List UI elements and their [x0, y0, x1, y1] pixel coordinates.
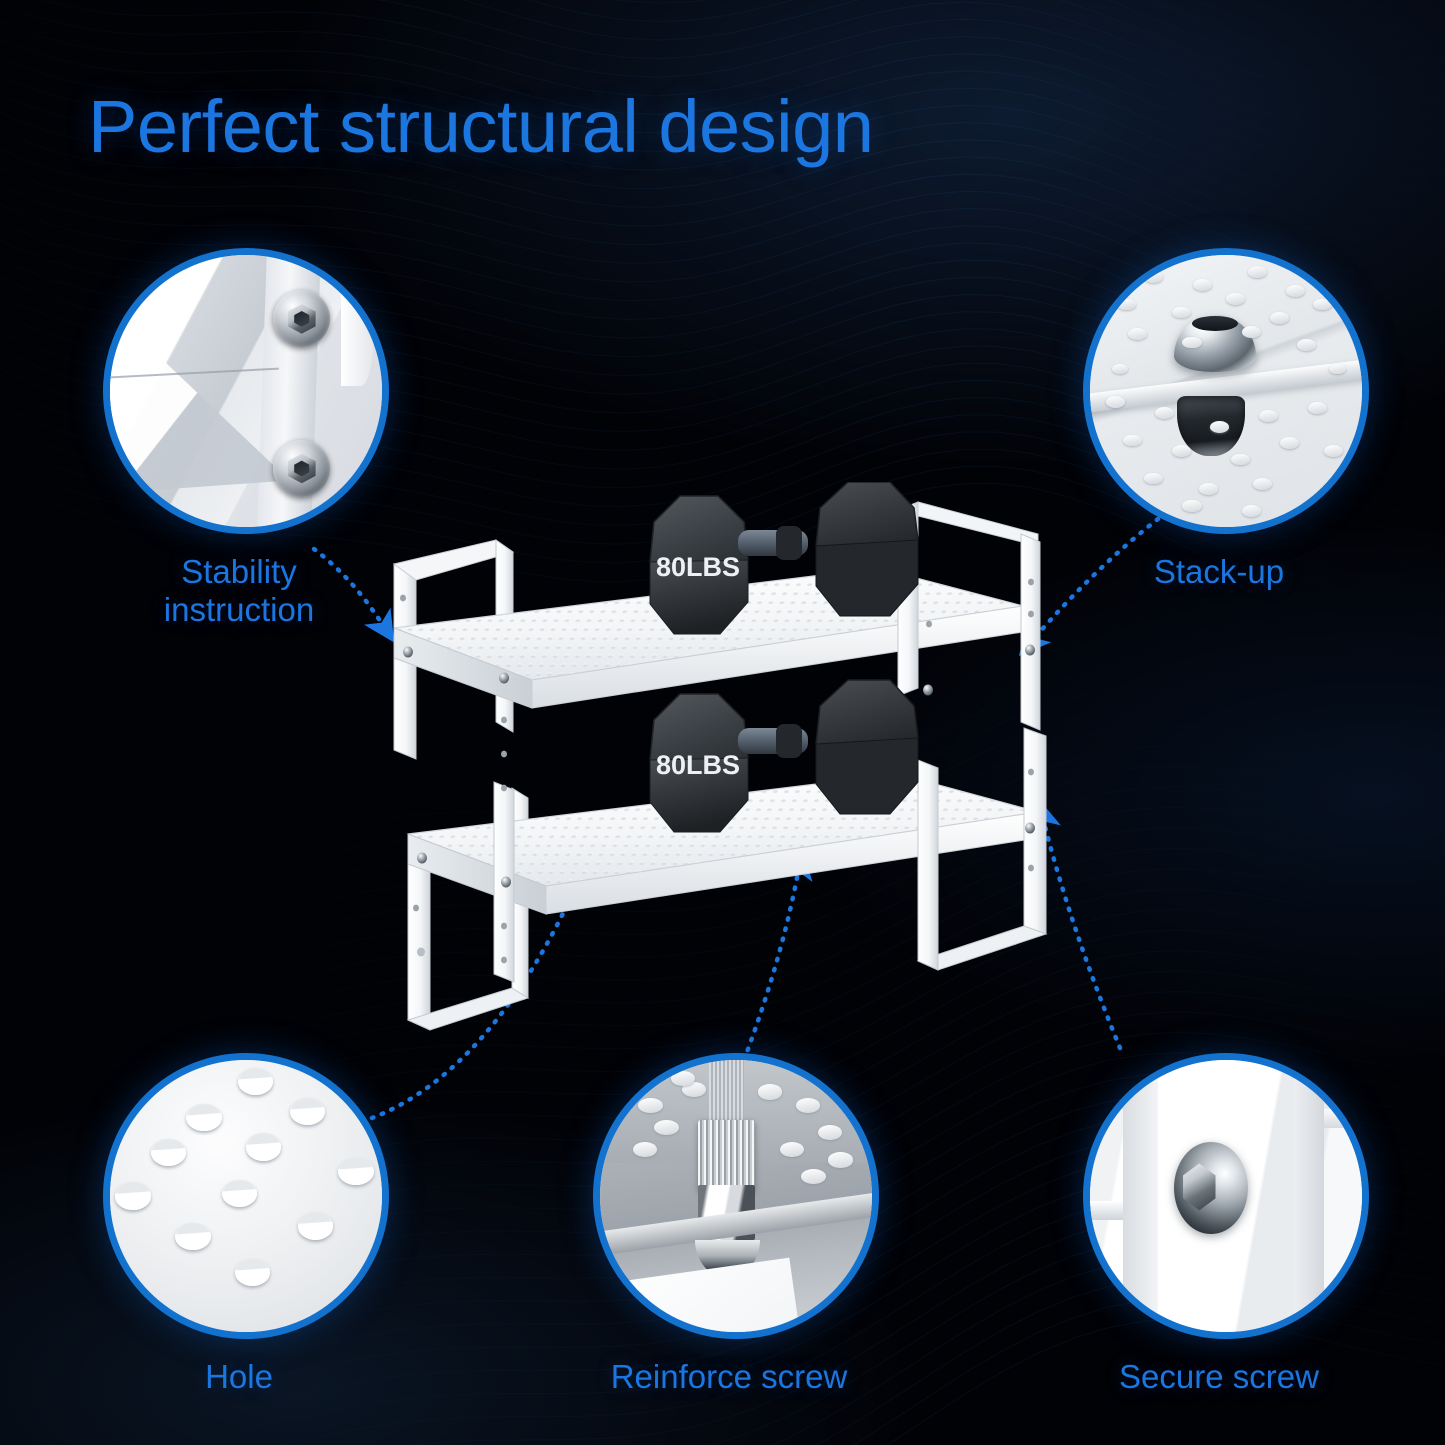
perforation-dot	[1112, 364, 1128, 374]
perforation-dot	[633, 1142, 657, 1157]
hex-screw-panel-icon[interactable]	[103, 248, 389, 534]
callout-stackup-label: Stack-up	[1083, 553, 1355, 591]
perforation-dot	[1231, 454, 1250, 466]
hole-dot	[115, 1182, 150, 1209]
perforated-disc-icon[interactable]	[103, 1053, 389, 1339]
perforation-dot	[1259, 410, 1278, 422]
hole-dot	[186, 1104, 221, 1131]
perforation-dot	[1308, 402, 1327, 414]
perforation-dot	[1182, 337, 1201, 349]
perforation-dot	[1286, 285, 1305, 297]
perforation-dot	[1193, 279, 1212, 291]
perforation-dot	[1182, 500, 1201, 512]
perforation-dot	[758, 1084, 782, 1099]
perforation-dot	[671, 1071, 695, 1086]
hole-dot	[298, 1212, 333, 1239]
callout-reinforce-label: Reinforce screw	[573, 1358, 885, 1396]
perforation-dot	[1117, 299, 1136, 311]
perforation-dot	[654, 1120, 678, 1135]
perforation-dot	[1144, 473, 1163, 485]
hole-dot	[238, 1068, 273, 1095]
dumbbell-weight-top: 80LBS	[656, 552, 740, 582]
perforation-dot	[1297, 339, 1316, 351]
perforation-dot	[1313, 299, 1332, 311]
product-illustration: 80LBS 80LBS	[378, 482, 1078, 1042]
perforation-dot	[828, 1152, 852, 1167]
perforation-dot	[1226, 293, 1245, 305]
perforation-dot	[1324, 445, 1343, 457]
hole-dot	[222, 1180, 257, 1207]
perforation-dot	[1329, 364, 1345, 374]
hole-dot	[151, 1139, 186, 1166]
perforation-dot	[1242, 326, 1261, 338]
perforation-dot	[1210, 421, 1229, 433]
perforation-dot	[1144, 271, 1163, 283]
hole-dot	[338, 1158, 373, 1185]
perforation-dot	[638, 1098, 662, 1113]
infographic-canvas: Perfect structural design	[0, 0, 1445, 1445]
callout-hole-label: Hole	[103, 1358, 375, 1396]
hole-dot	[246, 1133, 281, 1160]
perforation-dot	[1155, 407, 1174, 419]
callout-secure-label: Secure screw	[1063, 1358, 1375, 1396]
perforation-dot	[1248, 266, 1267, 278]
hole-dot	[235, 1259, 270, 1286]
hex-socket-bolt-icon[interactable]	[1083, 1053, 1369, 1339]
perforation-dot	[801, 1169, 825, 1184]
perforation-dot	[1199, 483, 1218, 495]
perforation-dot	[1253, 478, 1272, 490]
perforation-dot	[1242, 505, 1261, 517]
hole-dot	[290, 1098, 325, 1125]
dumbbell-weight-bottom: 80LBS	[656, 750, 740, 780]
knurled-chrome-screw-icon[interactable]	[593, 1053, 879, 1339]
perforation-dot	[1172, 445, 1191, 457]
callout-stability-label: Stability instruction	[103, 553, 375, 630]
perforation-dot	[1172, 307, 1191, 319]
perforation-dot	[1280, 437, 1299, 449]
hole-dot	[175, 1223, 210, 1250]
chrome-dome-connector-icon[interactable]	[1083, 248, 1369, 534]
perforation-dot	[780, 1142, 804, 1157]
perforation-dot	[1270, 312, 1289, 324]
perforation-dot	[1123, 435, 1142, 447]
page-title: Perfect structural design	[88, 84, 873, 169]
perforation-dot	[1128, 328, 1147, 340]
